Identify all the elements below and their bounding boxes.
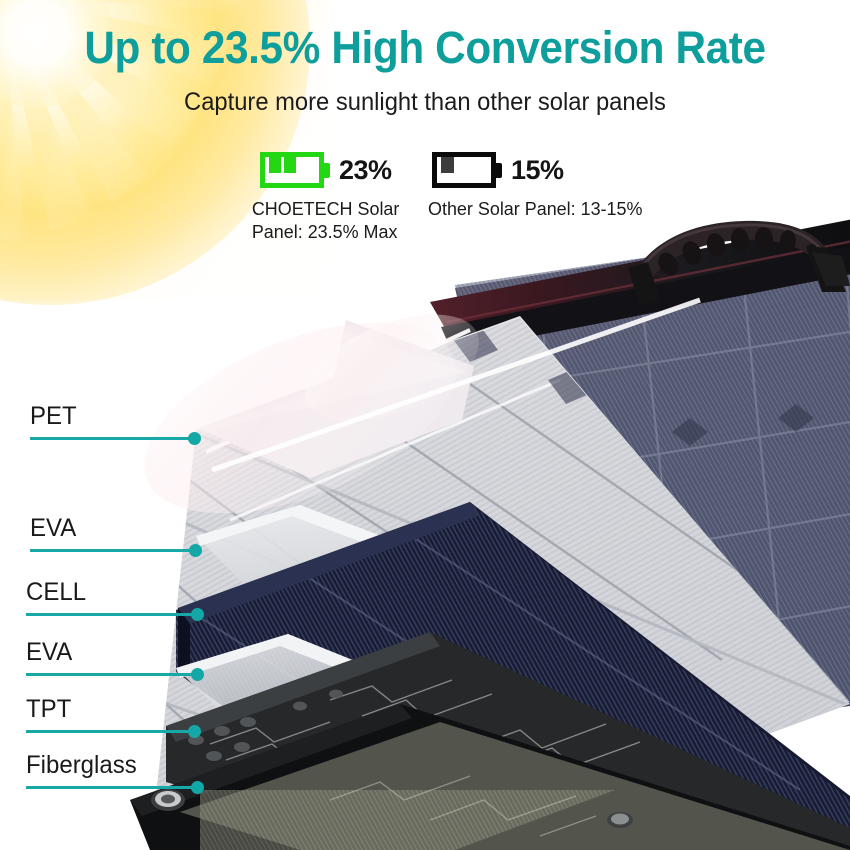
layer-callouts: PET EVA CELL EVA TPT Fiberglass: [0, 0, 850, 850]
callout-dot: [191, 608, 204, 621]
callout-label: TPT: [26, 695, 71, 724]
callout-dot: [191, 781, 204, 794]
callout-dot: [189, 544, 202, 557]
callout-dot: [188, 432, 201, 445]
product-infographic: Up to 23.5% High Conversion Rate Capture…: [0, 0, 850, 850]
callout-label: EVA: [30, 514, 76, 543]
callout-line: [30, 549, 194, 552]
callout-dot: [188, 725, 201, 738]
callout-label: CELL: [26, 578, 86, 607]
callout-line: [30, 437, 193, 440]
callout-line: [26, 613, 196, 616]
callout-dot: [191, 668, 204, 681]
callout-line: [26, 673, 196, 676]
callout-label: Fiberglass: [26, 751, 137, 780]
callout-label: EVA: [26, 638, 72, 667]
callout-label: PET: [30, 402, 77, 431]
callout-line: [26, 786, 196, 789]
callout-line: [26, 730, 193, 733]
